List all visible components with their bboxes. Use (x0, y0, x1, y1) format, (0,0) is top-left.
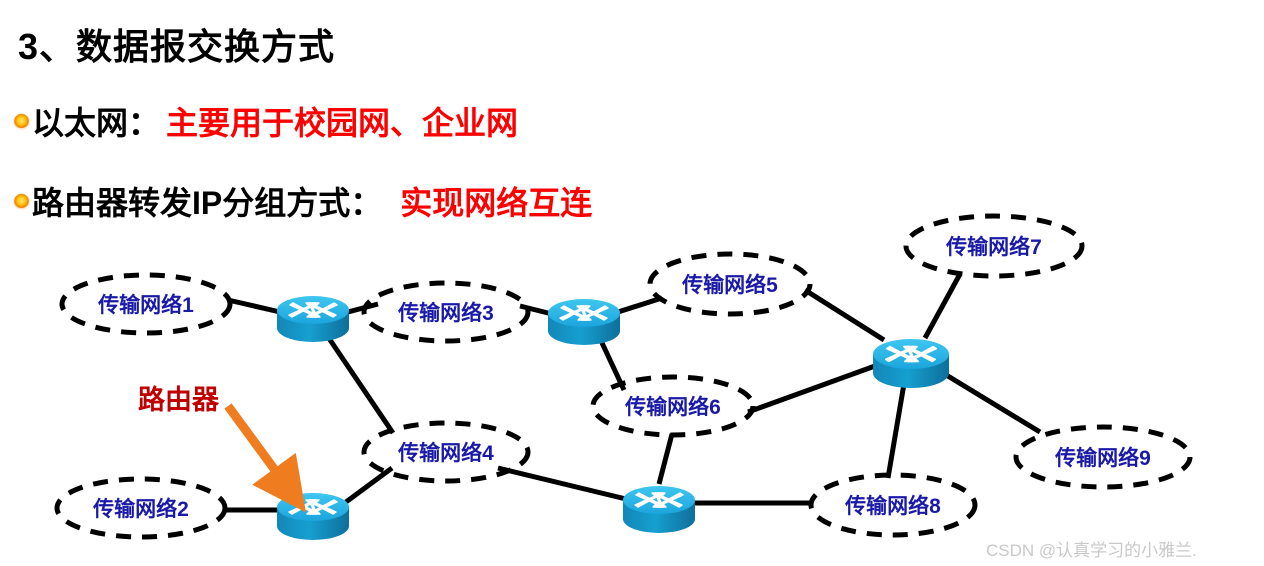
router-icon-r3 (873, 339, 949, 388)
networks-layer (57, 216, 1190, 537)
router-icon-r4 (623, 486, 695, 533)
link-net5-r3 (805, 290, 884, 340)
watermark: CSDN @认真学习的小雅兰. (986, 536, 1197, 561)
link-r3-net8 (888, 372, 906, 478)
link-r5-net4 (346, 468, 392, 502)
network-label-net5: 传输网络5 (682, 269, 778, 299)
link-net1-r1 (228, 300, 280, 312)
link-net3-r2 (520, 306, 552, 314)
link-net6-r3 (748, 366, 875, 412)
router-callout-label: 路由器 (138, 378, 219, 417)
callout-arrow (228, 406, 291, 492)
network-label-net1: 传输网络1 (98, 289, 194, 319)
router-icon-r5 (277, 493, 349, 540)
network-label-net6: 传输网络6 (625, 391, 721, 421)
network-label-net9: 传输网络9 (1055, 442, 1151, 472)
network-label-net3: 传输网络3 (398, 297, 494, 327)
link-r2-net5 (618, 298, 662, 312)
slide-canvas: 3、数据报交换方式 以太网： 主要用于校园网、企业网 路由器转发IP分组方式： … (0, 0, 1264, 566)
callout-arrow-layer (228, 406, 291, 492)
network-topology-diagram (0, 0, 1264, 566)
router-icon-r1 (277, 296, 349, 342)
network-label-net7: 传输网络7 (946, 231, 1042, 261)
link-r3-net9 (938, 370, 1040, 432)
link-r1-net4 (322, 328, 393, 433)
link-net6-r4 (659, 434, 672, 484)
link-net4-r4 (498, 468, 626, 499)
network-label-net2: 传输网络2 (93, 493, 189, 523)
network-label-net4: 传输网络4 (398, 437, 494, 467)
router-icon-r2 (548, 299, 620, 345)
network-label-net8: 传输网络8 (845, 490, 941, 520)
link-net7-r3 (925, 274, 960, 338)
